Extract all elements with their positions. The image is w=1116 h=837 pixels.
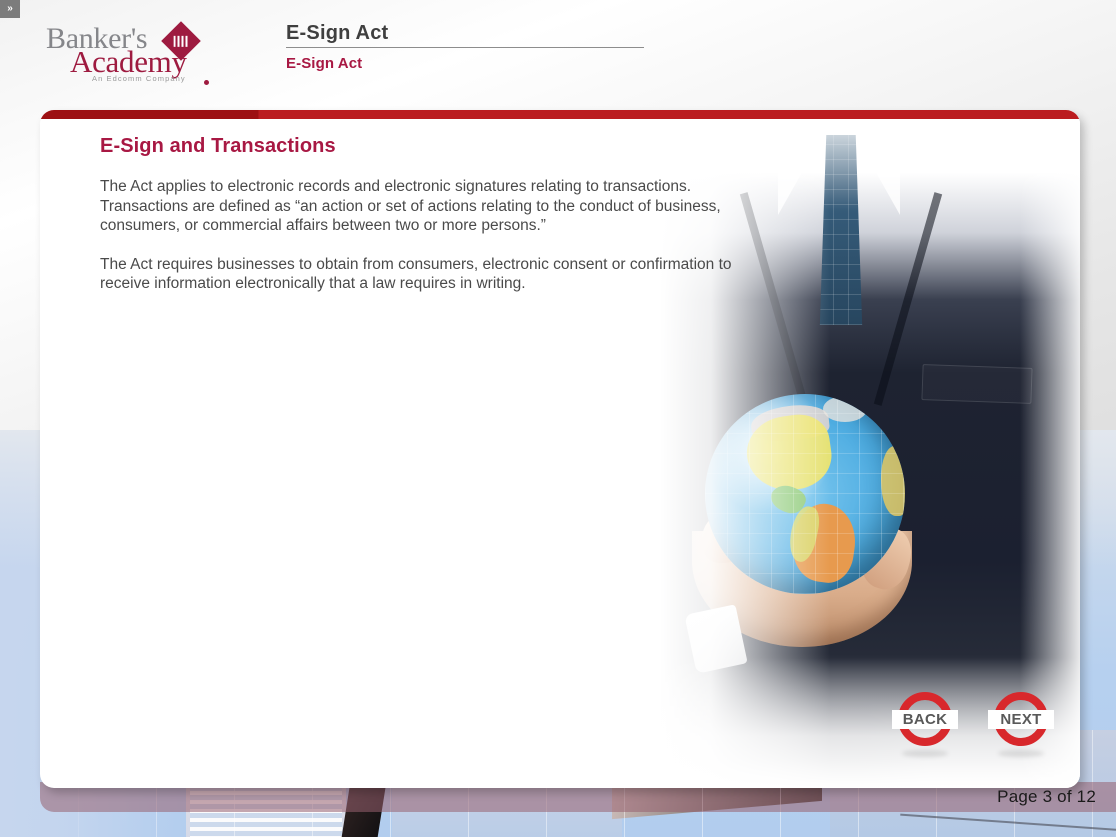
page-header: Banker's Academy An Edcomm Company E-Sig… — [0, 0, 1116, 100]
page-indicator: Page 3 of 12 — [997, 787, 1096, 807]
title-divider — [286, 47, 644, 48]
logo-tagline: An Edcomm Company — [92, 74, 186, 83]
next-button[interactable]: NEXT — [994, 692, 1048, 746]
back-button[interactable]: BACK — [898, 692, 952, 746]
bankers-academy-logo: Banker's Academy An Edcomm Company — [44, 22, 216, 84]
header-title-block: E-Sign Act E-Sign Act — [286, 22, 706, 72]
double-chevron-right-icon: » — [7, 3, 13, 14]
next-button-shadow — [998, 750, 1044, 757]
suit-pocket — [921, 364, 1032, 404]
slide-card: E-Sign and Transactions The Act applies … — [40, 110, 1080, 788]
course-title: E-Sign Act — [286, 22, 706, 45]
next-button-label: NEXT — [988, 710, 1054, 729]
slide-navigation: BACK NEXT — [898, 692, 1048, 746]
back-button-label: BACK — [892, 710, 958, 729]
presentation-viewport: Page 3 of 12 » Banker's Academy An Edcom… — [0, 0, 1116, 837]
slide-content: E-Sign and Transactions The Act applies … — [100, 135, 760, 313]
shirt-collar-right — [856, 137, 900, 215]
body-paragraph: The Act applies to electronic records an… — [100, 177, 750, 236]
module-title: E-Sign Act — [286, 55, 706, 72]
sidebar-toggle-button[interactable]: » — [0, 0, 20, 18]
body-paragraph: The Act requires businesses to obtain fr… — [100, 255, 750, 294]
slide-heading: E-Sign and Transactions — [100, 135, 760, 158]
slide-top-accent-bar — [40, 110, 1080, 119]
artwork-right-fade — [1020, 119, 1080, 788]
logo-accent-dot — [204, 80, 209, 85]
back-button-shadow — [902, 750, 948, 757]
